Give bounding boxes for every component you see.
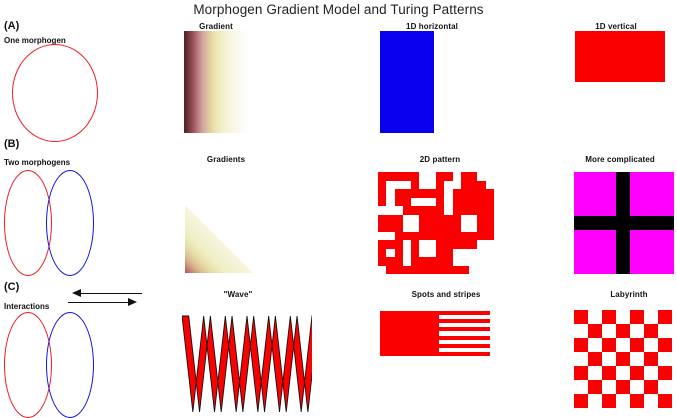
caption-gradients: Gradients <box>186 155 266 164</box>
pattern-cell <box>403 215 411 224</box>
pattern-cell <box>436 232 444 241</box>
pattern-cell <box>428 181 436 190</box>
one-d-horizontal-panel <box>380 31 434 133</box>
caption-gradient: Gradient <box>181 22 251 31</box>
caption-two-d-pattern: 2D pattern <box>390 155 490 164</box>
pattern-cell <box>477 240 485 249</box>
pattern-cell <box>403 232 411 241</box>
labyrinth-cell <box>658 324 672 338</box>
caption-one-d-horizontal: 1D horizontal <box>372 22 492 31</box>
pattern-cell <box>461 223 469 232</box>
pattern-cell <box>444 223 452 232</box>
labyrinth-cell <box>588 366 602 380</box>
labyrinth-cell <box>574 380 588 394</box>
pattern-cell <box>386 181 394 190</box>
caption-spots-and-stripes: Spots and stripes <box>386 290 506 299</box>
labyrinth-cell <box>630 310 644 324</box>
pattern-cell <box>395 257 403 266</box>
pattern-cell <box>378 198 386 207</box>
labyrinth-cell <box>574 310 588 324</box>
pattern-cell <box>386 189 394 198</box>
pattern-cell <box>419 240 427 249</box>
gradient-triangle-shape <box>185 205 253 273</box>
pattern-cell <box>419 232 427 241</box>
labyrinth-cell <box>630 380 644 394</box>
two-morphogens-ellipse-red <box>4 170 52 276</box>
pattern-cell <box>428 206 436 215</box>
pattern-cell <box>395 172 403 181</box>
pattern-cell <box>378 215 386 224</box>
labyrinth-cell <box>630 338 644 352</box>
pattern-cell <box>453 189 461 198</box>
pattern-cell <box>469 266 477 275</box>
labyrinth-cell <box>658 366 672 380</box>
pattern-cell <box>461 172 469 181</box>
pattern-cell <box>428 172 436 181</box>
pattern-cell <box>411 240 419 249</box>
pattern-cell <box>486 206 494 215</box>
pattern-cell <box>386 240 394 249</box>
two-morphogens-ellipse-blue <box>46 170 94 276</box>
labyrinth-cell <box>644 380 658 394</box>
labyrinth-cell <box>644 352 658 366</box>
arrow-left-icon <box>72 289 81 297</box>
pattern-cell <box>436 240 444 249</box>
pattern-cell <box>411 206 419 215</box>
caption-labyrinth: Labyrinth <box>584 290 674 299</box>
pattern-cell <box>453 266 461 275</box>
stripe-bar <box>439 352 490 356</box>
pattern-cell <box>453 206 461 215</box>
pattern-cell <box>444 232 452 241</box>
pattern-cell <box>444 206 452 215</box>
gradients-panel <box>185 205 253 273</box>
stripe-bar <box>439 336 490 340</box>
pattern-cell <box>378 189 386 198</box>
caption-wave: "Wave" <box>198 290 278 299</box>
labyrinth-cell <box>616 380 630 394</box>
labyrinth-cell <box>602 352 616 366</box>
labyrinth-cell <box>616 338 630 352</box>
pattern-cell <box>469 206 477 215</box>
labyrinth-cell <box>574 338 588 352</box>
labyrinth-cell <box>616 310 630 324</box>
pattern-cell <box>428 198 436 207</box>
pattern-cell <box>436 257 444 266</box>
pattern-cell <box>436 266 444 275</box>
pattern-cell <box>378 232 386 241</box>
pattern-cell <box>461 189 469 198</box>
pattern-cell <box>461 249 469 258</box>
labyrinth-cell <box>630 352 644 366</box>
pattern-cell <box>444 249 452 258</box>
interactions-ellipse-blue <box>46 312 94 418</box>
pattern-cell <box>411 172 419 181</box>
pattern-cell <box>444 189 452 198</box>
interaction-arrows <box>68 288 148 308</box>
pattern-cell <box>386 257 394 266</box>
labyrinth-cell <box>602 380 616 394</box>
pattern-cell <box>486 232 494 241</box>
pattern-cell <box>477 198 485 207</box>
pattern-cell <box>436 189 444 198</box>
pattern-cell <box>477 189 485 198</box>
pattern-cell <box>486 266 494 275</box>
pattern-cell <box>469 181 477 190</box>
pattern-cell <box>403 172 411 181</box>
labyrinth-cell <box>616 352 630 366</box>
row-sublabel-b: Two morphogens <box>4 158 70 167</box>
pattern-cell <box>395 206 403 215</box>
labyrinth-cell <box>644 310 658 324</box>
pattern-cell <box>378 249 386 258</box>
arrow-right-icon <box>128 298 137 306</box>
labyrinth-cell <box>602 310 616 324</box>
pattern-cell <box>486 249 494 258</box>
labyrinth-cell <box>574 366 588 380</box>
row-label-b: (B) <box>4 138 19 150</box>
pattern-cell <box>378 206 386 215</box>
labyrinth-cell <box>630 324 644 338</box>
pattern-cell <box>428 223 436 232</box>
row-label-c: (C) <box>4 281 19 293</box>
labyrinth-cell <box>602 324 616 338</box>
pattern-cell <box>403 223 411 232</box>
labyrinth-cell <box>644 366 658 380</box>
pattern-cell <box>386 223 394 232</box>
caption-more-complicated: More complicated <box>570 155 670 164</box>
pattern-cell <box>461 257 469 266</box>
pattern-cell <box>453 215 461 224</box>
pattern-cell <box>486 198 494 207</box>
pattern-cell <box>419 198 427 207</box>
pattern-cell <box>453 240 461 249</box>
pattern-cell <box>461 198 469 207</box>
pattern-cell <box>477 266 485 275</box>
pattern-cell <box>436 215 444 224</box>
pattern-cell <box>453 257 461 266</box>
pattern-cell <box>486 240 494 249</box>
spots-block <box>380 311 439 356</box>
pattern-cell <box>444 266 452 275</box>
pattern-cell <box>486 181 494 190</box>
pattern-cell <box>453 198 461 207</box>
pattern-cell <box>395 189 403 198</box>
pattern-cell <box>378 257 386 266</box>
arrow-line-left <box>76 293 142 294</box>
labyrinth-cell <box>574 352 588 366</box>
pattern-cell <box>453 223 461 232</box>
pattern-cell <box>444 215 452 224</box>
pattern-cell <box>428 266 436 275</box>
pattern-cell <box>444 181 452 190</box>
pattern-cell <box>386 206 394 215</box>
caption-one-d-vertical: 1D vertical <box>566 22 666 31</box>
pattern-cell <box>469 198 477 207</box>
pattern-cell <box>469 189 477 198</box>
figure-title: Morphogen Gradient Model and Turing Patt… <box>0 2 677 17</box>
pattern-cell <box>486 189 494 198</box>
pattern-cell <box>444 240 452 249</box>
pattern-cell <box>428 215 436 224</box>
labyrinth-cell <box>588 324 602 338</box>
pattern-cell <box>469 232 477 241</box>
pattern-cell <box>436 249 444 258</box>
pattern-cell <box>411 181 419 190</box>
pattern-cell <box>428 189 436 198</box>
two-d-pattern-panel <box>378 172 494 274</box>
pattern-cell <box>419 215 427 224</box>
pattern-cell <box>428 249 436 258</box>
pattern-cell <box>419 223 427 232</box>
figure-canvas: Morphogen Gradient Model and Turing Patt… <box>0 0 677 418</box>
labyrinth-panel <box>574 310 672 408</box>
pattern-cell <box>419 189 427 198</box>
pattern-cell <box>411 249 419 258</box>
pattern-cell <box>444 172 452 181</box>
pattern-cell <box>477 215 485 224</box>
pattern-cell <box>477 257 485 266</box>
pattern-cell <box>477 181 485 190</box>
labyrinth-cell <box>588 394 602 408</box>
pattern-cell <box>469 223 477 232</box>
pattern-cell <box>403 240 411 249</box>
labyrinth-cell <box>602 394 616 408</box>
pattern-cell <box>411 232 419 241</box>
pattern-cell <box>461 240 469 249</box>
pattern-cell <box>395 215 403 224</box>
pattern-cell <box>477 223 485 232</box>
labyrinth-cell <box>644 394 658 408</box>
more-complicated-panel <box>574 172 674 274</box>
pattern-cell <box>411 215 419 224</box>
labyrinth-cell <box>644 324 658 338</box>
labyrinth-cell <box>644 338 658 352</box>
pattern-cell <box>419 249 427 258</box>
pattern-cell <box>477 206 485 215</box>
pattern-cell <box>378 172 386 181</box>
labyrinth-cell <box>588 338 602 352</box>
pattern-cell <box>428 240 436 249</box>
pattern-cell <box>453 172 461 181</box>
pattern-cell <box>419 181 427 190</box>
pattern-cell <box>453 181 461 190</box>
pattern-cell <box>436 198 444 207</box>
pattern-cell <box>403 266 411 275</box>
pattern-cell <box>386 215 394 224</box>
stripe-bar <box>439 311 490 315</box>
pattern-cell <box>378 240 386 249</box>
labyrinth-cell <box>588 352 602 366</box>
pattern-cell <box>461 266 469 275</box>
pattern-cell <box>403 206 411 215</box>
labyrinth-cell <box>616 324 630 338</box>
pattern-cell <box>395 198 403 207</box>
pattern-cell <box>419 172 427 181</box>
labyrinth-cell <box>574 394 588 408</box>
pattern-cell <box>436 181 444 190</box>
labyrinth-cell <box>602 366 616 380</box>
pattern-cell <box>378 181 386 190</box>
pattern-cell <box>411 223 419 232</box>
pattern-cell <box>378 223 386 232</box>
pattern-cell <box>477 249 485 258</box>
pattern-cell <box>469 257 477 266</box>
pattern-cell <box>477 172 485 181</box>
pattern-cell <box>486 172 494 181</box>
labyrinth-cell <box>602 338 616 352</box>
pattern-cell <box>395 249 403 258</box>
pattern-cell <box>411 257 419 266</box>
pattern-cell <box>386 232 394 241</box>
pattern-cell <box>461 181 469 190</box>
labyrinth-cell <box>658 310 672 324</box>
stripes-group <box>439 311 490 356</box>
labyrinth-cell <box>616 394 630 408</box>
pattern-cell <box>395 232 403 241</box>
pattern-cell <box>403 198 411 207</box>
pattern-cell <box>395 223 403 232</box>
pattern-cell <box>469 249 477 258</box>
pattern-cell <box>386 198 394 207</box>
pattern-cell <box>486 257 494 266</box>
stripe-bar <box>439 327 490 331</box>
pattern-cell <box>477 232 485 241</box>
labyrinth-cell <box>658 380 672 394</box>
pattern-cell <box>428 257 436 266</box>
gradient-panel <box>184 31 250 133</box>
pattern-cell <box>469 215 477 224</box>
pattern-cell <box>461 215 469 224</box>
labyrinth-cell <box>658 338 672 352</box>
row-label-a: (A) <box>4 20 19 32</box>
pattern-cell <box>436 206 444 215</box>
labyrinth-cell <box>630 394 644 408</box>
pattern-cell <box>453 232 461 241</box>
interactions-ellipse-red <box>4 312 52 418</box>
pattern-cell <box>461 232 469 241</box>
pattern-cell <box>436 223 444 232</box>
pattern-cell <box>386 172 394 181</box>
labyrinth-cell <box>630 366 644 380</box>
pattern-cell <box>411 189 419 198</box>
pattern-cell <box>395 181 403 190</box>
wave-zigzag-shape <box>182 316 312 412</box>
one-morphogen-ellipse <box>12 44 98 142</box>
pattern-cell <box>428 232 436 241</box>
pattern-cell <box>403 257 411 266</box>
labyrinth-cell <box>588 380 602 394</box>
pattern-cell <box>386 249 394 258</box>
pattern-cell <box>469 172 477 181</box>
pattern-cell <box>378 266 386 275</box>
pattern-cell <box>469 240 477 249</box>
pattern-cell <box>411 266 419 275</box>
arrow-line-right <box>68 302 134 303</box>
pattern-cell <box>419 206 427 215</box>
stripe-bar <box>439 319 490 323</box>
pattern-cell <box>444 257 452 266</box>
pattern-cell <box>419 266 427 275</box>
pattern-cell <box>419 257 427 266</box>
labyrinth-cell <box>658 352 672 366</box>
labyrinth-cell <box>616 366 630 380</box>
labyrinth-cell <box>588 310 602 324</box>
pattern-cell <box>444 198 452 207</box>
pattern-cell <box>395 240 403 249</box>
pattern-cell <box>411 198 419 207</box>
pattern-cell <box>403 181 411 190</box>
labyrinth-cell <box>574 324 588 338</box>
pattern-cell <box>386 266 394 275</box>
pattern-cell <box>436 172 444 181</box>
pattern-cell <box>453 249 461 258</box>
row-sublabel-c: Interactions <box>4 302 49 311</box>
labyrinth-cell <box>658 394 672 408</box>
pattern-cell <box>403 249 411 258</box>
one-d-vertical-panel <box>575 31 665 82</box>
pattern-cell <box>395 266 403 275</box>
pattern-cell <box>486 223 494 232</box>
pattern-cell <box>403 189 411 198</box>
cross-horizontal-bar <box>574 216 674 230</box>
stripe-bar <box>439 344 490 348</box>
pattern-cell <box>486 215 494 224</box>
pattern-cell <box>461 206 469 215</box>
wave-panel <box>182 312 312 416</box>
